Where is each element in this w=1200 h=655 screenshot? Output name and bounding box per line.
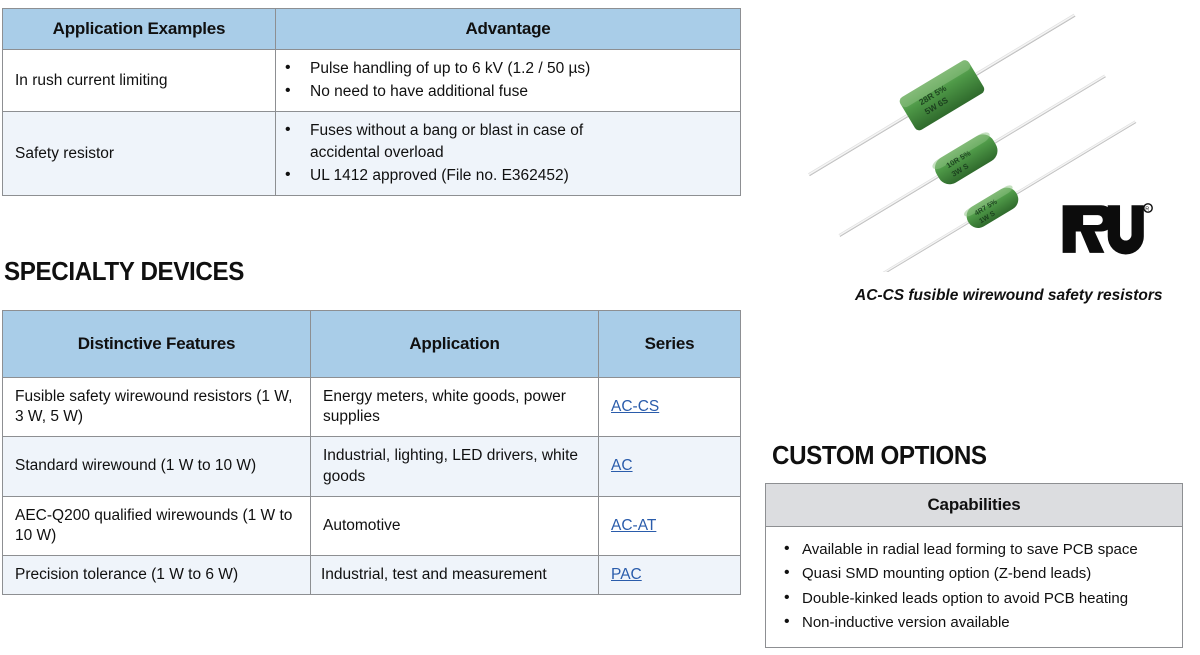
cell-series: AC-CS	[599, 378, 741, 437]
list-item: Quasi SMD mounting option (Z-bend leads)	[772, 563, 1176, 584]
cell-distinctive-feature: AEC-Q200 qualified wirewounds (1 W to 10…	[3, 496, 311, 555]
list-item: UL 1412 approved (File no. E362452)	[282, 165, 734, 187]
ul-recognized-component-mark-icon: R	[1063, 204, 1153, 255]
advantage-bullet-list: Fuses without a bang or blast in case of…	[282, 120, 734, 187]
cell-series: PAC	[599, 555, 741, 594]
column-header-series: Series	[599, 311, 741, 378]
svg-text:R: R	[1145, 206, 1149, 212]
advantages-table: Application Examples Advantage In rush c…	[2, 8, 741, 196]
column-header-distinctive-features: Distinctive Features	[3, 311, 311, 378]
cell-advantage: Fuses without a bang or blast in case of…	[276, 112, 741, 196]
cell-application-example: In rush current limiting	[3, 50, 276, 112]
cell-application: Automotive	[311, 496, 599, 555]
table-row: Standard wirewound (1 W to 10 W) Industr…	[3, 437, 741, 496]
column-header-application: Application	[311, 311, 599, 378]
list-item: Available in radial lead forming to save…	[772, 539, 1176, 560]
cell-application: Industrial, test and measurement	[311, 555, 599, 594]
capabilities-bullet-list: Available in radial lead forming to save…	[772, 539, 1176, 633]
series-link-ac-cs[interactable]: AC-CS	[611, 398, 659, 415]
list-item: Fuses without a bang or blast in case of…	[282, 120, 640, 164]
table-row: In rush current limiting Pulse handling …	[3, 50, 741, 112]
table-row: Available in radial lead forming to save…	[766, 527, 1183, 648]
cell-application: Energy meters, white goods, power suppli…	[311, 378, 599, 437]
product-photo-caption: AC-CS fusible wirewound safety resistors	[855, 286, 1175, 307]
custom-options-heading: CUSTOM OPTIONS	[772, 440, 987, 471]
list-item: Non-inductive version available	[772, 612, 1176, 633]
table-row: AEC-Q200 qualified wirewounds (1 W to 10…	[3, 496, 741, 555]
cell-capabilities-list: Available in radial lead forming to save…	[766, 527, 1183, 648]
cell-distinctive-feature: Standard wirewound (1 W to 10 W)	[3, 437, 311, 496]
cell-series: AC-AT	[599, 496, 741, 555]
cell-series: AC	[599, 437, 741, 496]
table-header-row: Capabilities	[766, 484, 1183, 527]
column-header-capabilities: Capabilities	[766, 484, 1183, 527]
series-link-pac[interactable]: PAC	[611, 566, 642, 583]
column-header-advantage: Advantage	[276, 9, 741, 50]
specialty-devices-heading: SPECIALTY DEVICES	[4, 256, 244, 287]
table-header-row: Distinctive Features Application Series	[3, 311, 741, 378]
series-link-ac[interactable]: AC	[611, 457, 633, 474]
table-row: Precision tolerance (1 W to 6 W) Industr…	[3, 555, 741, 594]
cell-application: Industrial, lighting, LED drivers, white…	[311, 437, 599, 496]
list-item: Pulse handling of up to 6 kV (1.2 / 50 µ…	[282, 58, 734, 80]
advantage-bullet-list: Pulse handling of up to 6 kV (1.2 / 50 µ…	[282, 58, 734, 103]
table-header-row: Application Examples Advantage	[3, 9, 741, 50]
table-row: Safety resistor Fuses without a bang or …	[3, 112, 741, 196]
specialty-devices-table: Distinctive Features Application Series …	[2, 310, 741, 595]
list-item: No need to have additional fuse	[282, 81, 734, 103]
cell-advantage: Pulse handling of up to 6 kV (1.2 / 50 µ…	[276, 50, 741, 112]
list-item: Double-kinked leads option to avoid PCB …	[772, 588, 1176, 609]
table-row: Fusible safety wirewound resistors (1 W,…	[3, 378, 741, 437]
column-header-application-examples: Application Examples	[3, 9, 276, 50]
resistor-illustration: 28R 5% 5W 6S 10R 5% 3W S 4R7 5% 1W S R	[768, 2, 1188, 272]
product-photo-ac-cs-resistors: 28R 5% 5W 6S 10R 5% 3W S 4R7 5% 1W S R	[768, 2, 1188, 272]
cell-distinctive-feature: Fusible safety wirewound resistors (1 W,…	[3, 378, 311, 437]
cell-distinctive-feature: Precision tolerance (1 W to 6 W)	[3, 555, 311, 594]
capabilities-table: Capabilities Available in radial lead fo…	[765, 483, 1183, 648]
series-link-ac-at[interactable]: AC-AT	[611, 517, 656, 534]
cell-application-example: Safety resistor	[3, 112, 276, 196]
